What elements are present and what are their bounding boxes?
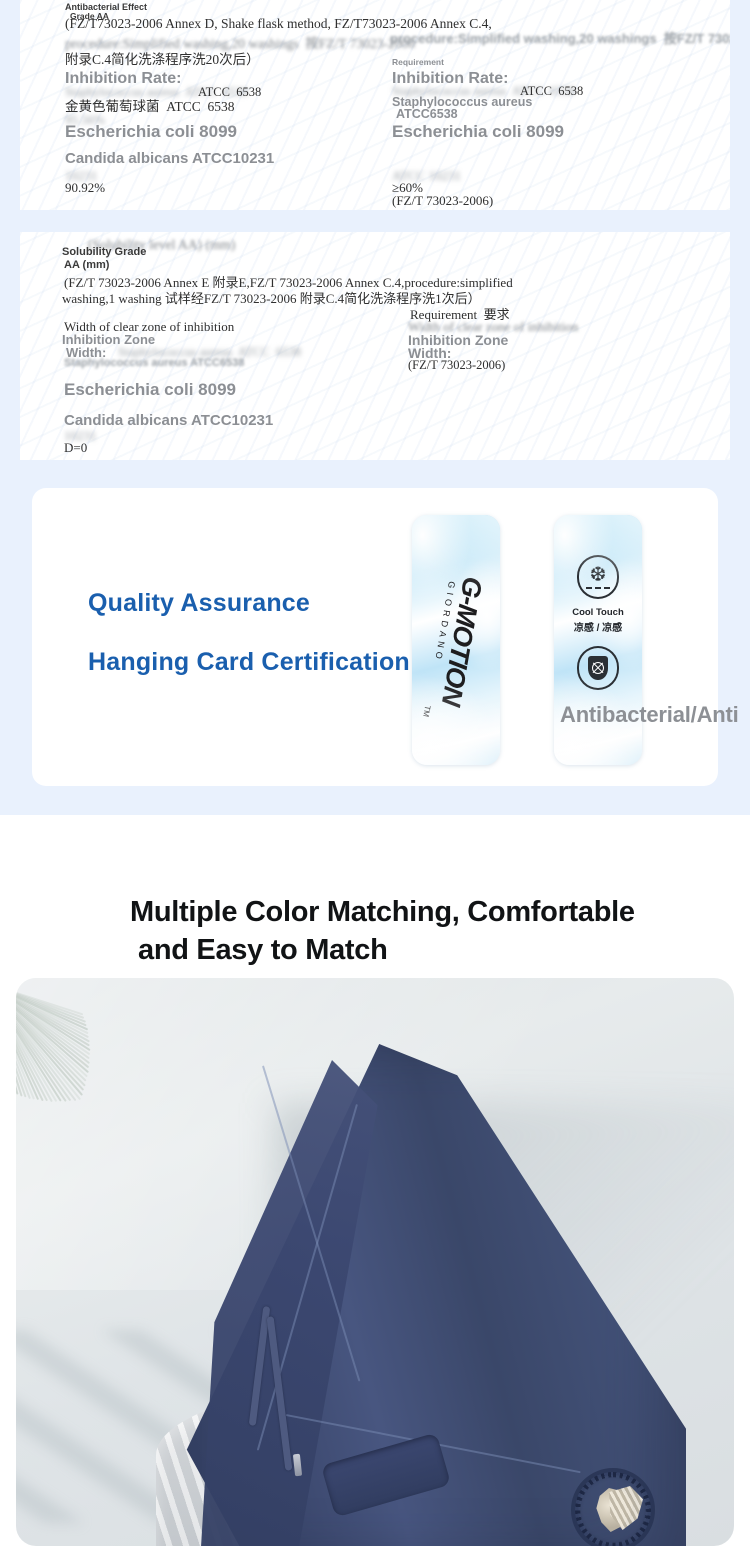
report-a-scan-line-3: 附录C.4简化洗涤程序洗20次后） bbox=[65, 48, 260, 68]
navy-shorts bbox=[166, 1044, 726, 1546]
drawstring-cord-2 bbox=[267, 1316, 293, 1471]
cool-wave-lines-icon bbox=[586, 587, 610, 589]
germ-cross-glyph bbox=[592, 662, 604, 674]
drawstring-aglet bbox=[293, 1454, 302, 1477]
report-b-left-organism-candida: Candida albicans ATCC10231 bbox=[64, 412, 273, 429]
report-a-left-value-4: 90.92% bbox=[65, 180, 105, 196]
report-a-right-value-3: (FZ/T 73023-2006) bbox=[392, 193, 493, 209]
report-a-requirement-small: Requirement bbox=[392, 57, 444, 67]
snowflake-glyph: ❆ bbox=[590, 565, 607, 585]
g-motion-brand-lockup: G-MOTION GIORDANO TM bbox=[426, 573, 486, 708]
report-b-heading-1: Solubility Grade bbox=[62, 246, 146, 258]
report-b-heading-2: AA (mm) bbox=[64, 259, 109, 271]
report-a-heading-2: Grade AA bbox=[70, 11, 109, 21]
report-a-requirement-blur: procedure:Simplified washing,20 washings… bbox=[390, 28, 730, 47]
report-b-left-species-label: Staphylococcus aureus ATCC6538 bbox=[64, 357, 244, 369]
shield-glyph bbox=[588, 656, 608, 680]
antibacterial-label: Antibacterial/Anti bbox=[560, 702, 739, 728]
hanging-card-certification-title: Hanging Card Certification bbox=[88, 648, 410, 677]
product-photo-navy-shorts bbox=[16, 978, 734, 1546]
lion-crest-emblem bbox=[571, 1468, 655, 1546]
section-headline: Multiple Color Matching, Comfortable and… bbox=[130, 893, 750, 970]
report-b-left-organism-ecoli: Escherichia coli 8099 bbox=[64, 380, 236, 400]
report-a-right-organism-ecoli: Escherichia coli 8099 bbox=[392, 122, 564, 142]
cool-touch-label-cn: 凉感 / 凉感 bbox=[554, 619, 642, 634]
headline-line-2: and Easy to Match bbox=[138, 931, 750, 969]
report-b-left-value-2: D=0 bbox=[64, 440, 87, 456]
report-a-left-organism-ecoli: Escherichia coli 8099 bbox=[65, 122, 237, 142]
headline-line-1: Multiple Color Matching, Comfortable bbox=[130, 896, 635, 928]
g-motion-hang-tag: G-MOTION GIORDANO TM bbox=[412, 515, 500, 765]
trademark-symbol: TM bbox=[421, 705, 432, 718]
report-a-right-organism-2: ATCC6538 bbox=[396, 107, 458, 121]
solubility-grade-report-panel: (Solubility level AA) (mm) Solubility Gr… bbox=[20, 232, 730, 460]
drawstring bbox=[250, 1306, 340, 1506]
report-b-right-note: (FZ/T 73023-2006) bbox=[408, 358, 505, 373]
snowflake-icon: ❆ bbox=[577, 555, 619, 599]
antibacterial-effect-report-panel: (FZ/T73023-2006 Annex D, Shake flask met… bbox=[20, 0, 730, 210]
antibacterial-shield-icon bbox=[577, 646, 619, 690]
report-a-left-organism-candida: Candida albicans ATCC10231 bbox=[65, 150, 274, 167]
cool-touch-label-en: Cool Touch bbox=[554, 607, 642, 618]
quality-assurance-title: Quality Assurance bbox=[88, 589, 310, 618]
